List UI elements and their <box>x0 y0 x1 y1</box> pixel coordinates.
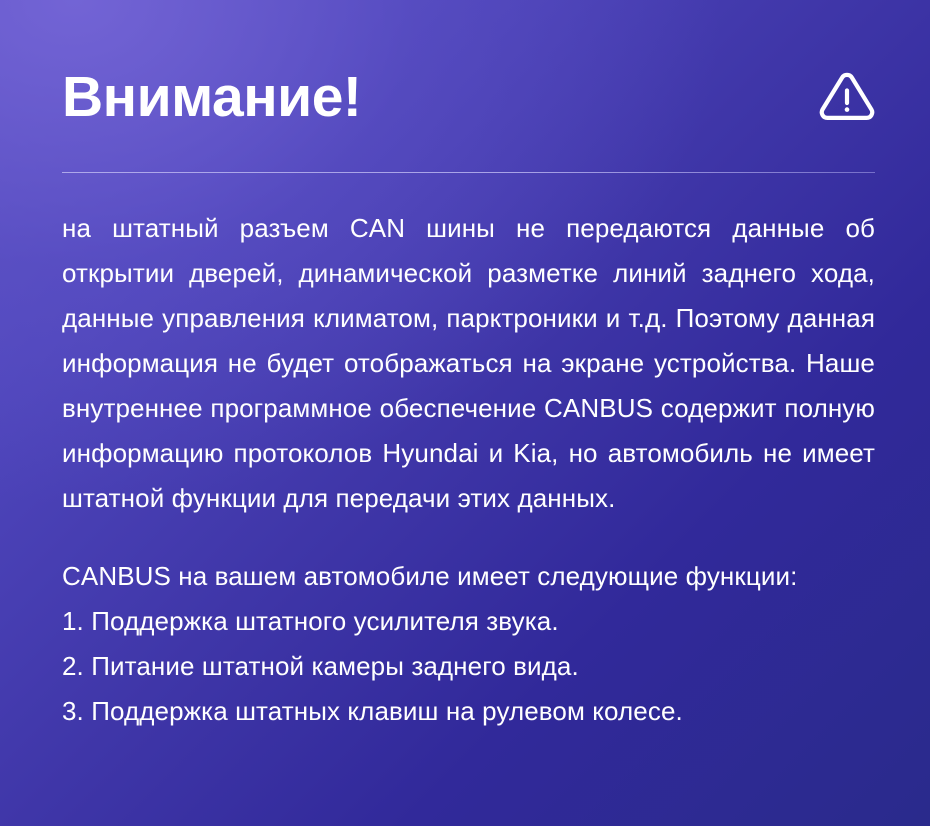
notice-header: Внимание! <box>62 58 875 136</box>
functions-intro: CANBUS на вашем автомобиле имеет следующ… <box>62 554 875 599</box>
notice-body: на штатный разъем CAN шины не передаются… <box>62 206 875 734</box>
list-item-label: Поддержка штатных клавиш на рулевом коле… <box>91 696 683 726</box>
functions-block: CANBUS на вашем автомобиле имеет следующ… <box>62 554 875 734</box>
list-item: 3. Поддержка штатных клавиш на рулевом к… <box>62 689 875 734</box>
list-item: 2. Питание штатной камеры заднего вида. <box>62 644 875 689</box>
page-title: Внимание! <box>62 65 361 129</box>
header-divider <box>62 172 875 173</box>
intro-paragraph: на штатный разъем CAN шины не передаются… <box>62 206 875 521</box>
list-item: 1. Поддержка штатного усилителя звука. <box>62 599 875 644</box>
list-item-number: 2. <box>62 651 84 681</box>
list-item-number: 1. <box>62 606 84 636</box>
warning-notice-card: Внимание! на штатный разъем CAN шины не … <box>0 0 930 826</box>
list-item-label: Питание штатной камеры заднего вида. <box>91 651 579 681</box>
list-item-number: 3. <box>62 696 84 726</box>
list-item-label: Поддержка штатного усилителя звука. <box>91 606 558 636</box>
warning-triangle-icon <box>819 72 875 122</box>
